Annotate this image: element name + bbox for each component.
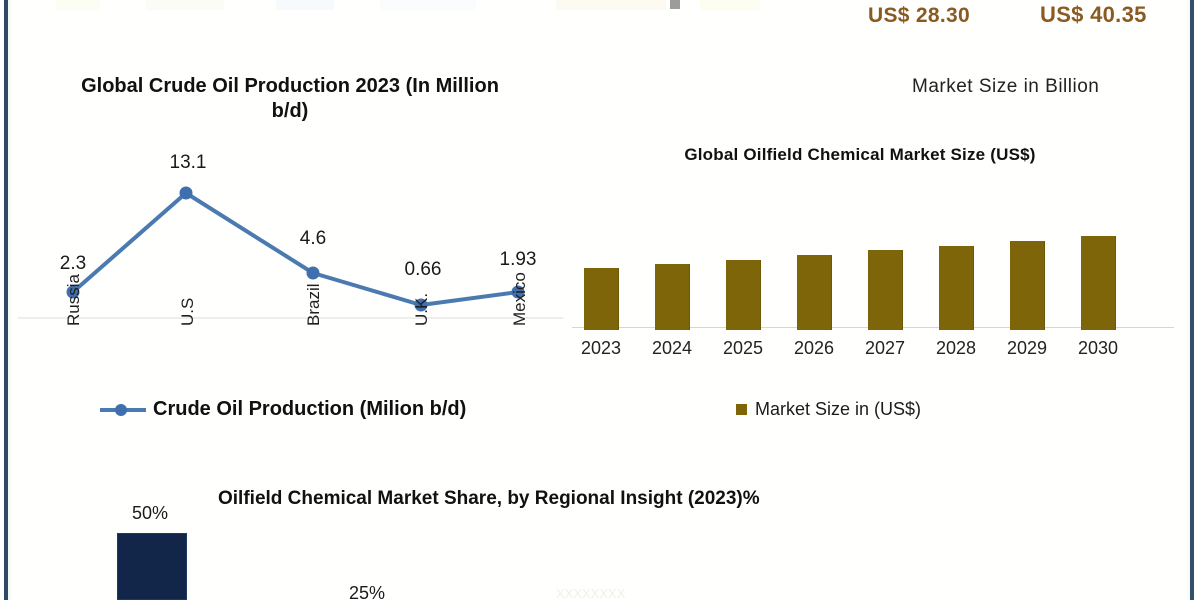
data-point-us bbox=[180, 187, 193, 200]
bar-xlabel-2028: 2028 bbox=[936, 338, 976, 359]
share-data-label-25: 25% bbox=[349, 583, 385, 600]
bar-2029[interactable] bbox=[1010, 241, 1045, 330]
crude-oil-production-line-chart: 2.3 13.1 4.6 0.66 1.93 bbox=[18, 140, 563, 325]
axis-label-us: U.S bbox=[178, 298, 198, 326]
bar-2026[interactable] bbox=[797, 255, 832, 330]
crude-oil-production-series-line bbox=[73, 193, 518, 305]
oilfield-chemical-market-size-bar-chart bbox=[565, 180, 1180, 330]
bar-xlabel-2029: 2029 bbox=[1007, 338, 1047, 359]
regional-market-share-bar-chart: 50% 25% XXXXXXXX bbox=[0, 470, 1200, 600]
cropped-header-fragment-7 bbox=[700, 0, 760, 10]
market-size-unit-caption: Market Size in Billion bbox=[912, 76, 1099, 98]
legend-label-crude-oil-production: Crude Oil Production (Milion b/d) bbox=[153, 398, 466, 421]
bar-2025[interactable] bbox=[726, 260, 761, 330]
infographic-page: US$ 28.30 US$ 40.35 Market Size in Billi… bbox=[0, 0, 1200, 600]
legend-label-market-size: Market Size in (US$) bbox=[755, 399, 921, 420]
data-label-russia: 2.3 bbox=[60, 253, 86, 275]
cropped-header-fragment-2 bbox=[146, 0, 224, 10]
share-data-label-50: 50% bbox=[132, 503, 168, 524]
bar-2028[interactable] bbox=[939, 246, 974, 330]
bar-chart-title: Global Oilfield Chemical Market Size (US… bbox=[600, 144, 1120, 165]
bar-xlabel-2027: 2027 bbox=[865, 338, 905, 359]
line-chart-legend[interactable]: Crude Oil Production (Milion b/d) bbox=[100, 398, 466, 421]
bar-xlabel-2024: 2024 bbox=[652, 338, 692, 359]
market-size-2030-value: US$ 40.35 bbox=[1040, 2, 1147, 28]
axis-label-uk: U.K. bbox=[412, 293, 432, 326]
bar-xlabel-2026: 2026 bbox=[794, 338, 834, 359]
share-bar-1[interactable] bbox=[117, 533, 187, 600]
axis-label-russia: Russia bbox=[64, 274, 84, 326]
bar-xlabel-2025: 2025 bbox=[723, 338, 763, 359]
bar-xlabel-2030: 2030 bbox=[1078, 338, 1118, 359]
bar-2030[interactable] bbox=[1081, 236, 1116, 330]
data-label-us: 13.1 bbox=[170, 152, 207, 174]
axis-label-mexico: Mexico bbox=[510, 272, 530, 326]
legend-line-marker-icon bbox=[100, 408, 146, 412]
data-label-brazil: 4.6 bbox=[300, 228, 326, 250]
cropped-header-fragment-5 bbox=[556, 0, 666, 10]
cropped-header-fragment-6 bbox=[670, 0, 680, 9]
data-label-uk: 0.66 bbox=[405, 259, 442, 281]
legend-square-marker-icon bbox=[736, 404, 747, 415]
bar-2023[interactable] bbox=[584, 268, 619, 330]
axis-label-brazil: Brazil bbox=[304, 283, 324, 326]
data-label-mexico: 1.93 bbox=[500, 249, 537, 271]
share-chart-faint-fragment: XXXXXXXX bbox=[556, 586, 625, 600]
cropped-header-fragment-3 bbox=[276, 0, 334, 10]
cropped-header-fragment-1 bbox=[56, 0, 100, 10]
data-point-brazil bbox=[307, 267, 320, 280]
cropped-header-fragment-4 bbox=[380, 0, 476, 10]
bar-chart-legend[interactable]: Market Size in (US$) bbox=[736, 399, 921, 420]
line-chart-svg bbox=[18, 140, 563, 325]
market-size-2023-value: US$ 28.30 bbox=[868, 4, 970, 28]
bar-xlabel-2023: 2023 bbox=[581, 338, 621, 359]
bar-2024[interactable] bbox=[655, 264, 690, 330]
line-chart-title: Global Crude Oil Production 2023 (In Mil… bbox=[60, 74, 520, 124]
bar-2027[interactable] bbox=[868, 250, 903, 330]
